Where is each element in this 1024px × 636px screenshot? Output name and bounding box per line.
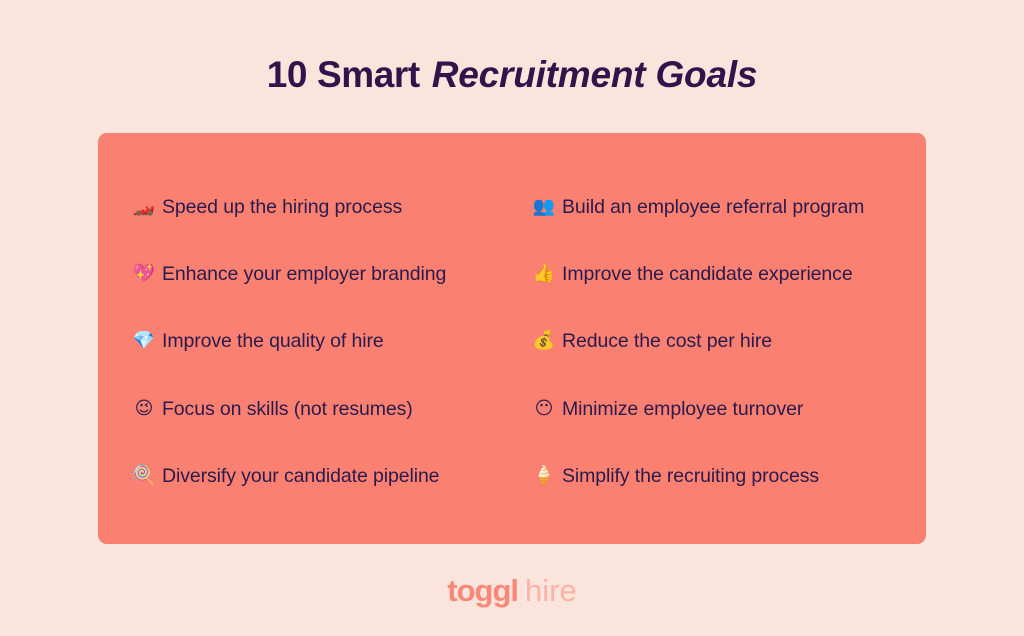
goal-label-1: Speed up the hiring process (162, 194, 402, 220)
face-without-mouth-icon: 😶 (533, 400, 555, 418)
lollipop-icon: 🍭 (133, 467, 155, 485)
racing-car-icon: 🏎️ (133, 198, 155, 216)
thumbs-up-icon: 👍 (533, 265, 555, 283)
goal-item-6: 👥 Build an employee referral program (498, 194, 926, 220)
goal-item-8: 💰 Reduce the cost per hire (498, 328, 926, 354)
goal-item-3: 💎 Improve the quality of hire (98, 328, 498, 354)
goal-label-9: Minimize employee turnover (562, 396, 803, 422)
goal-item-7: 👍 Improve the candidate experience (498, 261, 926, 287)
page-title-plain: 10 Smart (267, 54, 420, 95)
goals-card: 🏎️ Speed up the hiring process 👥 Build a… (98, 133, 926, 544)
money-bag-icon: 💰 (533, 332, 555, 350)
goal-label-3: Improve the quality of hire (162, 328, 384, 354)
goal-item-2: 💖 Enhance your employer branding (98, 261, 498, 287)
sparkling-heart-icon: 💖 (133, 265, 155, 283)
goal-label-8: Reduce the cost per hire (562, 328, 772, 354)
goal-item-1: 🏎️ Speed up the hiring process (98, 194, 498, 220)
busts-in-silhouette-icon: 👥 (533, 198, 555, 216)
goal-label-6: Build an employee referral program (562, 194, 864, 220)
goal-item-4: 😉 Focus on skills (not resumes) (98, 396, 498, 422)
toggl-hire-logo: togglhire (0, 573, 1024, 609)
page-title-italic: Recruitment Goals (432, 54, 758, 95)
logo-word-toggl: toggl (447, 573, 518, 608)
goal-item-10: 🍦 Simplify the recruiting process (498, 463, 926, 489)
page-title: 10 Smart Recruitment Goals (0, 50, 1024, 100)
goal-label-2: Enhance your employer branding (162, 261, 446, 287)
winking-face-icon: 😉 (133, 400, 155, 418)
goal-label-4: Focus on skills (not resumes) (162, 396, 413, 422)
goal-label-10: Simplify the recruiting process (562, 463, 819, 489)
goal-item-5: 🍭 Diversify your candidate pipeline (98, 463, 498, 489)
goals-grid: 🏎️ Speed up the hiring process 👥 Build a… (98, 133, 926, 544)
logo-word-hire: hire (525, 573, 577, 608)
goal-item-9: 😶 Minimize employee turnover (498, 396, 926, 422)
goal-label-5: Diversify your candidate pipeline (162, 463, 439, 489)
infographic-canvas: 10 Smart Recruitment Goals 🏎️ Speed up t… (0, 0, 1024, 636)
gem-stone-icon: 💎 (133, 332, 155, 350)
goal-label-7: Improve the candidate experience (562, 261, 853, 287)
soft-ice-cream-icon: 🍦 (533, 467, 555, 485)
